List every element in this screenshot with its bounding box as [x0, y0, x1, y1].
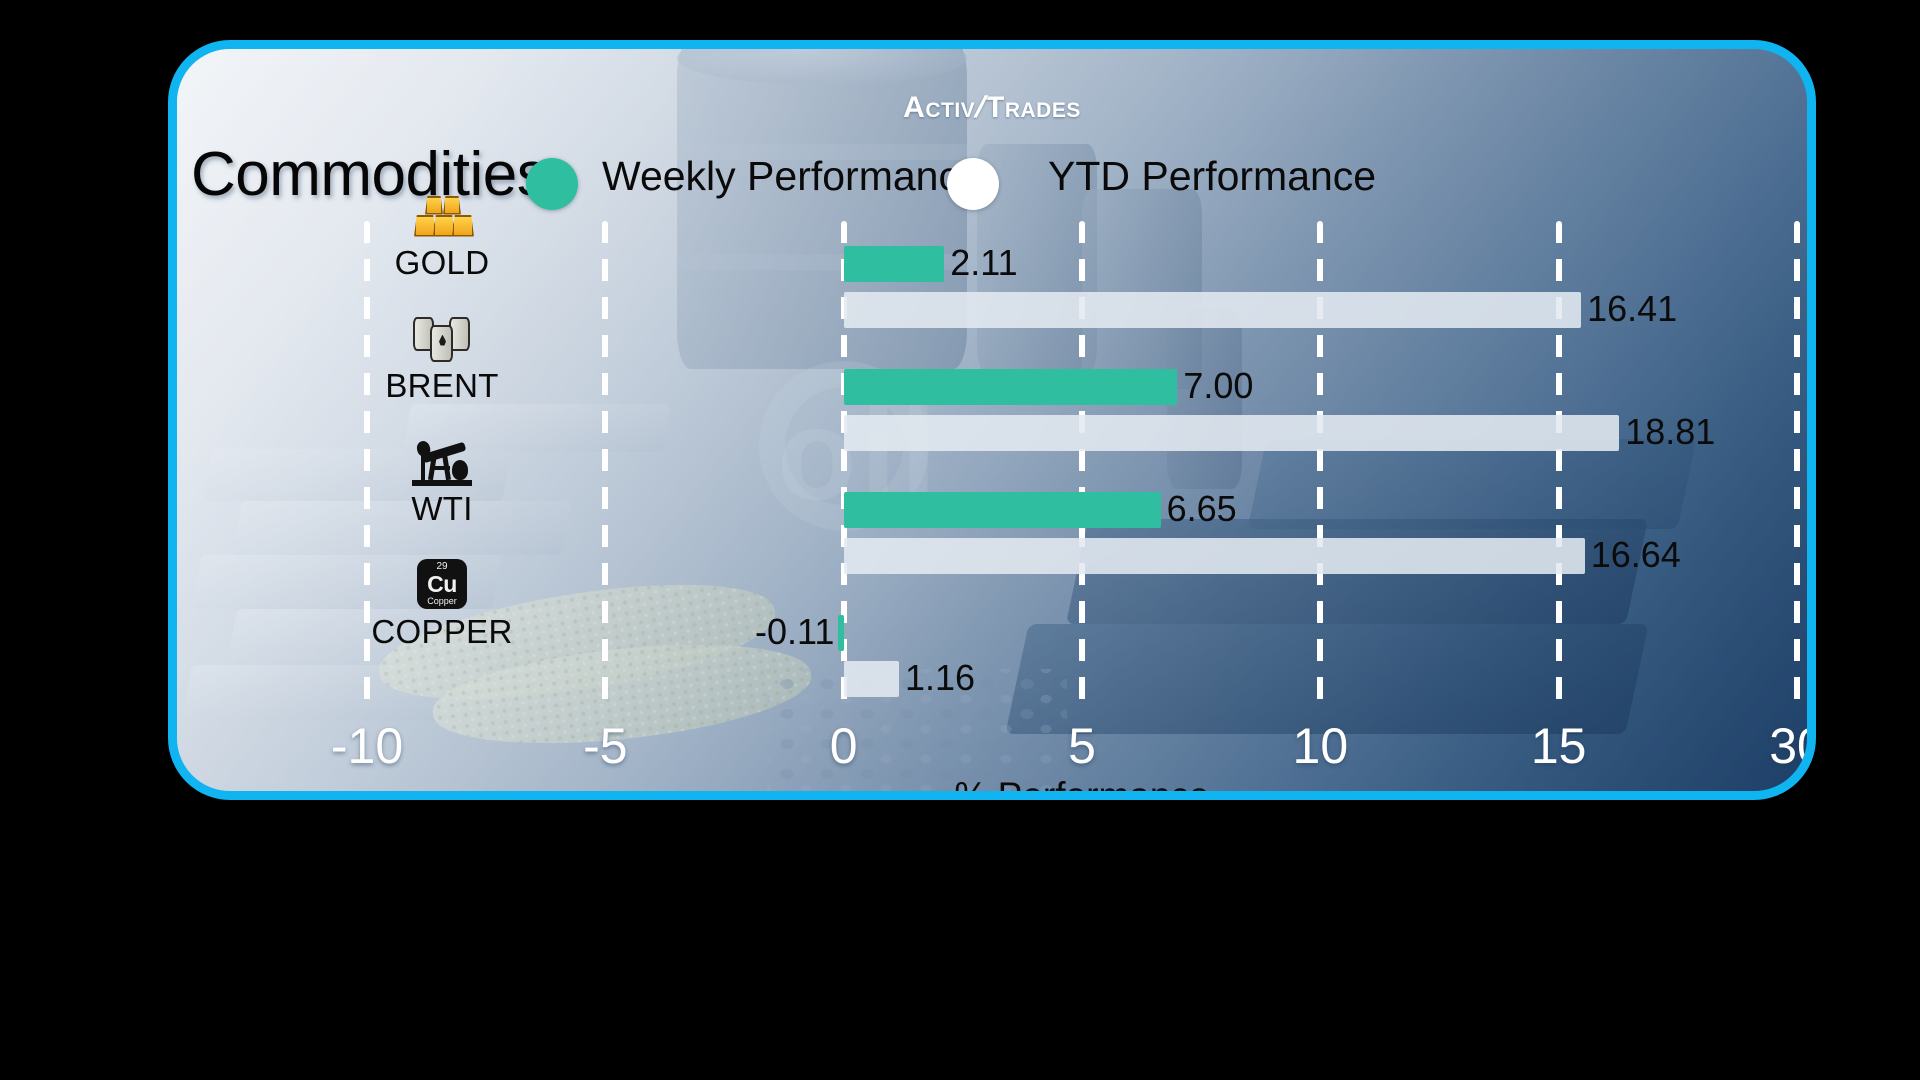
chart-card: oil Activ/Trades Commodities Weekly Perf… — [168, 40, 1816, 800]
logo-text-part2: Trades — [986, 91, 1081, 124]
bar-gold-ytd — [844, 292, 1581, 328]
bar-copper-ytd — [844, 661, 899, 697]
bar-value-copper-weekly: -0.11 — [755, 614, 834, 650]
bar-value-wti-ytd: 16.64 — [1591, 537, 1681, 573]
x-tick-label: -5 — [583, 717, 627, 775]
gridline — [602, 221, 608, 713]
legend-marker-ytd — [947, 158, 999, 210]
bar-value-brent-ytd: 18.81 — [1625, 414, 1715, 450]
activtrades-logo: Activ/Trades — [177, 91, 1807, 125]
bar-value-brent-weekly: 7.00 — [1183, 368, 1253, 404]
bar-wti-ytd — [844, 538, 1585, 574]
legend-label-weekly: Weekly Performance — [602, 153, 982, 200]
x-tick-label: 5 — [1068, 717, 1096, 775]
x-tick-label: 15 — [1531, 717, 1587, 775]
bar-brent-ytd — [844, 415, 1620, 451]
x-tick-label: 30 — [1769, 717, 1816, 775]
plot-area: 2.1116.417.0018.816.6516.64-0.111.16 — [367, 221, 1797, 713]
bar-gold-weekly — [844, 246, 945, 282]
logo-text-part1: Activ — [903, 91, 975, 124]
bar-value-wti-weekly: 6.65 — [1167, 491, 1237, 527]
x-tick-label: 0 — [830, 717, 858, 775]
bar-value-gold-ytd: 16.41 — [1587, 291, 1677, 327]
bar-wti-weekly — [844, 492, 1161, 528]
bar-copper-weekly — [838, 615, 843, 651]
x-axis-label: % Performance — [367, 775, 1797, 800]
x-tick-label: 10 — [1293, 717, 1349, 775]
gridline — [1794, 221, 1800, 713]
bar-brent-weekly — [844, 369, 1178, 405]
gridline — [364, 221, 370, 713]
x-axis-ticks: -10-505101530 — [367, 717, 1797, 779]
bar-value-gold-weekly: 2.11 — [950, 245, 1017, 281]
legend-label-ytd: YTD Performance — [1048, 153, 1376, 200]
bar-value-copper-ytd: 1.16 — [905, 660, 975, 696]
x-tick-label: -10 — [331, 717, 403, 775]
